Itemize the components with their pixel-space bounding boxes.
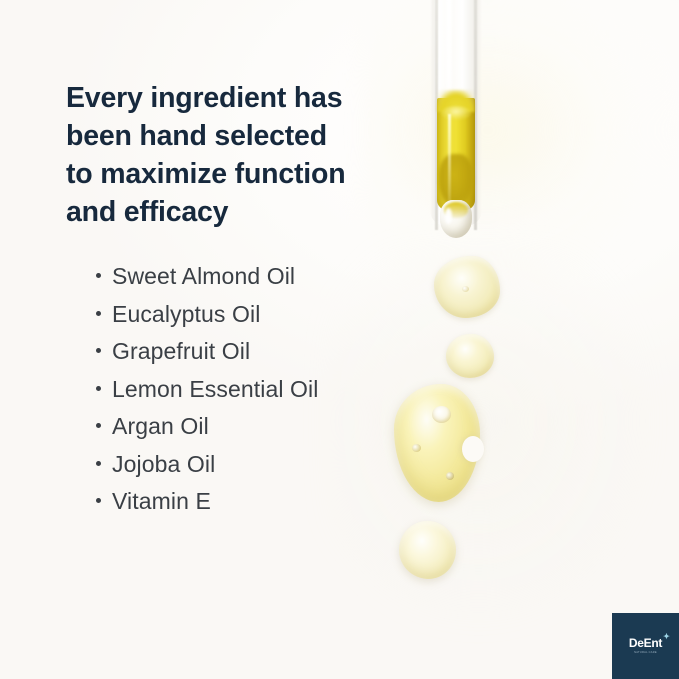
list-item: Eucalyptus Oil	[96, 296, 318, 334]
ingredient-label: Grapefruit Oil	[112, 333, 250, 371]
ingredient-label: Argan Oil	[112, 408, 209, 446]
background-light-wash-lower	[330, 250, 660, 630]
ingredient-label: Eucalyptus Oil	[112, 296, 260, 334]
ingredient-label: Lemon Essential Oil	[112, 371, 318, 409]
glass-dropper-pipette-icon	[430, 0, 482, 244]
pipette-oil-streak	[448, 114, 451, 204]
bullet-icon	[96, 498, 101, 503]
droplet-bubble-icon	[462, 286, 469, 292]
oil-droplet-4	[399, 521, 456, 579]
marketing-image-canvas: Every ingredient has been hand selected …	[0, 0, 679, 679]
droplet-bubble-tiny-icon	[446, 472, 454, 480]
headline: Every ingredient has been hand selected …	[66, 79, 396, 231]
pipette-tip-highlight	[445, 208, 452, 224]
pipette-oil-shadow	[439, 154, 473, 206]
list-item: Vitamin E	[96, 483, 318, 521]
list-item: Grapefruit Oil	[96, 333, 318, 371]
list-item: Jojoba Oil	[96, 446, 318, 484]
oil-droplet-1	[434, 256, 500, 318]
droplet-bubble-large-icon	[432, 406, 451, 423]
headline-line-3: to maximize function	[66, 155, 396, 193]
bullet-icon	[96, 311, 101, 316]
list-item: Argan Oil	[96, 408, 318, 446]
ingredient-label: Jojoba Oil	[112, 446, 215, 484]
droplet-notch	[462, 436, 484, 462]
bullet-icon	[96, 348, 101, 353]
brand-wordmark-text: DeEnt	[629, 636, 662, 650]
bullet-icon	[96, 423, 101, 428]
list-item: Sweet Almond Oil	[96, 258, 318, 296]
ingredient-label: Vitamin E	[112, 483, 211, 521]
headline-line-4: and efficacy	[66, 193, 396, 231]
brand-wordmark: DeEnt ✦	[629, 637, 662, 649]
ingredient-list: Sweet Almond Oil Eucalyptus Oil Grapefru…	[96, 258, 318, 521]
droplet-bubble-small-icon	[412, 444, 421, 452]
bullet-icon	[96, 461, 101, 466]
list-item: Lemon Essential Oil	[96, 371, 318, 409]
ingredient-label: Sweet Almond Oil	[112, 258, 295, 296]
pipette-oil-surface-glint	[441, 106, 471, 120]
brand-tagline: NATURAL CARE	[634, 651, 657, 655]
brand-badge: DeEnt ✦ NATURAL CARE	[612, 613, 679, 679]
brand-accent-icon: ✦	[663, 634, 668, 639]
headline-line-2: been hand selected	[66, 117, 396, 155]
headline-line-1: Every ingredient has	[66, 79, 396, 117]
bullet-icon	[96, 386, 101, 391]
bullet-icon	[96, 273, 101, 278]
oil-droplet-2	[446, 334, 494, 378]
